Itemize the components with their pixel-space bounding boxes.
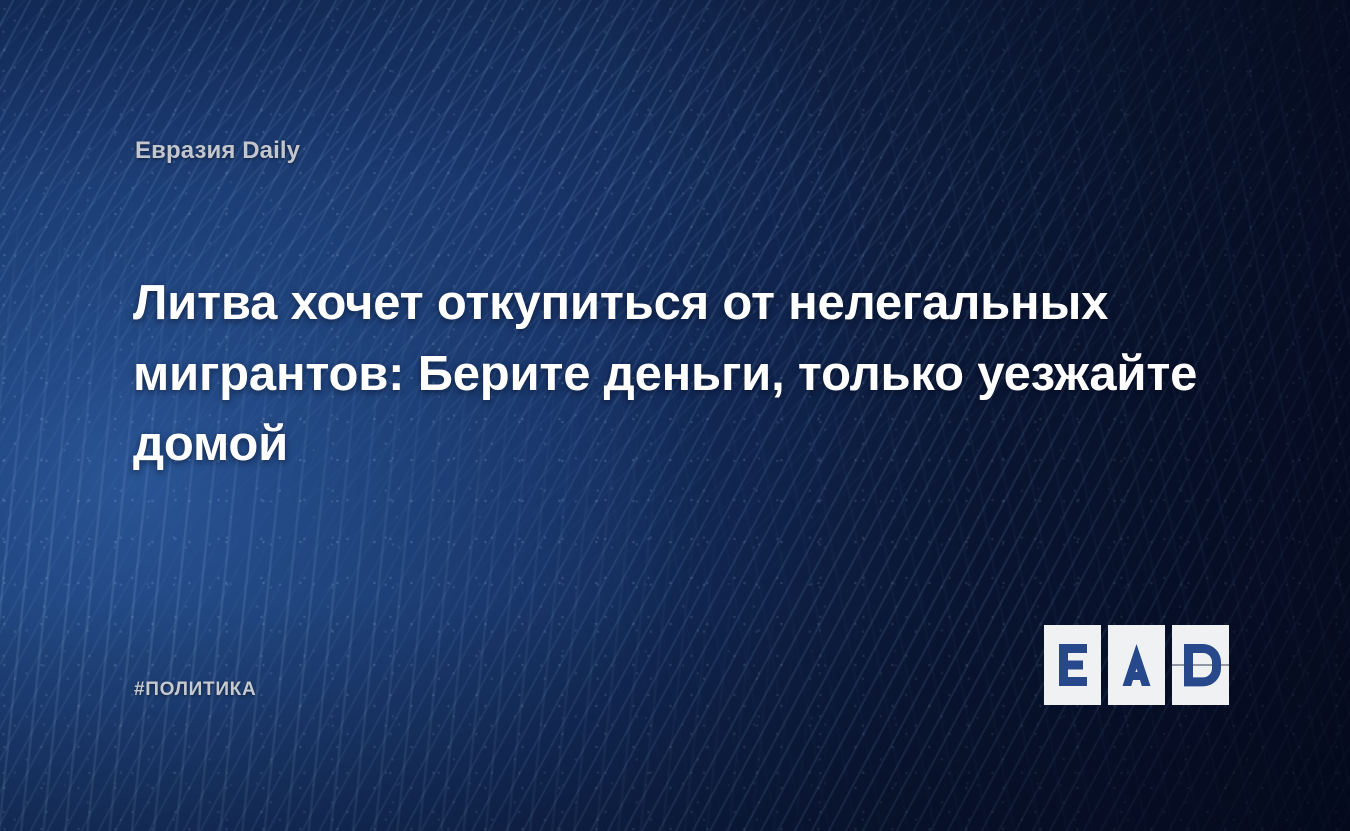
logo-tile-e <box>1044 625 1101 705</box>
ead-logo <box>1044 625 1229 705</box>
news-share-card: Евразия Daily Литва хочет откупиться от … <box>0 0 1350 831</box>
category-tag: #ПОЛИТИКА <box>134 679 256 701</box>
logo-tile-d <box>1172 625 1229 705</box>
logo-tile-a <box>1108 625 1165 705</box>
card-content: Евразия Daily Литва хочет откупиться от … <box>0 0 1350 831</box>
publisher-name: Евразия Daily <box>135 137 300 165</box>
headline: Литва хочет откупиться от нелегальных ми… <box>133 268 1223 480</box>
